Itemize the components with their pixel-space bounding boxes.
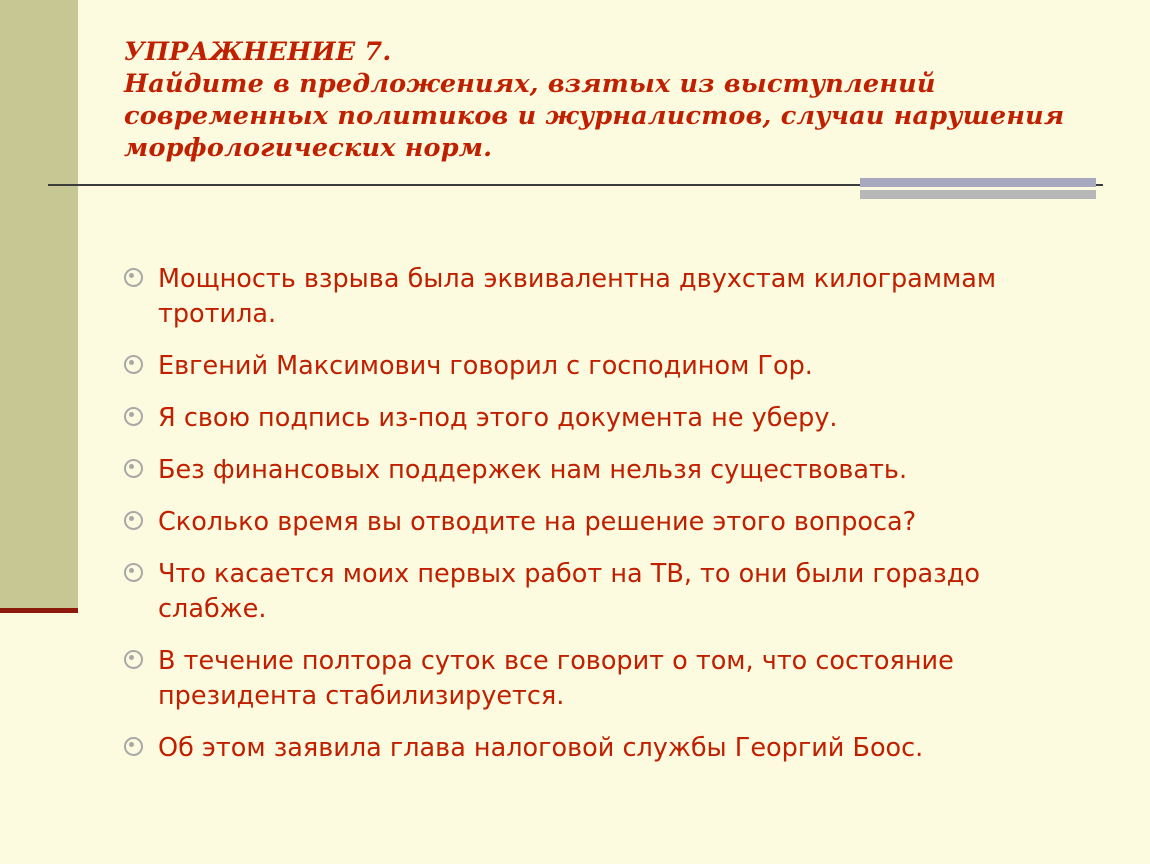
list-item: Мощность взрыва была эквивалентна двухст… [124, 262, 1084, 332]
list-item: Евгений Максимович говорил с господином … [124, 349, 1084, 384]
list-item: Об этом заявила глава налоговой службы Г… [124, 731, 1084, 766]
list-item-text: Об этом заявила глава налоговой службы Г… [158, 731, 1084, 766]
bullet-ring-icon [124, 401, 158, 429]
page-title: УПРАЖНЕНИЕ 7. Найдите в предложениях, вз… [124, 36, 1084, 164]
title-heading: УПРАЖНЕНИЕ 7. [124, 36, 1084, 68]
list-item: Что касается моих первых работ на ТВ, то… [124, 557, 1084, 627]
list-item-text: Сколько время вы отводите на решение это… [158, 505, 1084, 540]
bullet-ring-icon [124, 453, 158, 481]
decorative-bar-bottom [860, 190, 1096, 199]
list-item-text: Без финансовых поддержек нам нельзя суще… [158, 453, 1084, 488]
slide-canvas: УПРАЖНЕНИЕ 7. Найдите в предложениях, вз… [0, 0, 1150, 864]
list-item: Сколько время вы отводите на решение это… [124, 505, 1084, 540]
list-item-text: Евгений Максимович говорил с господином … [158, 349, 1084, 384]
bullet-ring-icon [124, 262, 158, 290]
decorative-bar-top [860, 178, 1096, 187]
list-item-text: В течение полтора суток все говорит о то… [158, 644, 1084, 714]
left-decorative-band [0, 0, 78, 610]
list-item: Без финансовых поддержек нам нельзя суще… [124, 453, 1084, 488]
list-item: В течение полтора суток все говорит о то… [124, 644, 1084, 714]
title-body: Найдите в предложениях, взятых из выступ… [124, 68, 1084, 164]
list-item-text: Мощность взрыва была эквивалентна двухст… [158, 262, 1084, 332]
bullet-ring-icon [124, 557, 158, 585]
bullet-ring-icon [124, 349, 158, 377]
list-item: Я свою подпись из-под этого документа не… [124, 401, 1084, 436]
bullet-ring-icon [124, 644, 158, 672]
bullet-ring-icon [124, 731, 158, 759]
bullet-ring-icon [124, 505, 158, 533]
list-item-text: Что касается моих первых работ на ТВ, то… [158, 557, 1084, 627]
left-band-underline [0, 608, 78, 613]
list-item-text: Я свою подпись из-под этого документа не… [158, 401, 1084, 436]
bullet-list: Мощность взрыва была эквивалентна двухст… [124, 262, 1084, 783]
